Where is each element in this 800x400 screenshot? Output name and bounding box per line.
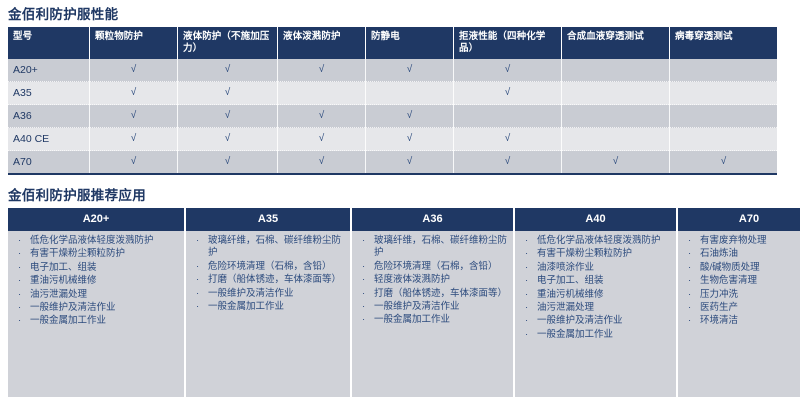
bullet-icon: · [525,262,528,274]
bullet-icon: · [196,261,199,273]
application-list: ·玻璃纤维，石棉、碳纤维粉尘防护·危险环境清理（石棉，含铅）·轻度液体泼溅防护·… [354,235,511,327]
list-item-label: 生物危害清理 [700,275,757,286]
list-item: ·打磨（船体锈迹，车体漆面等） [354,288,511,300]
perf-cell-check: √ [90,59,178,82]
list-item-label: 油污泄漏处理 [537,302,594,313]
bullet-icon: · [525,275,528,287]
list-item-label: 有害干燥粉尘颗粒防护 [537,248,632,259]
perf-cell-check: √ [366,59,454,82]
table-row: A36√√√√ [8,105,777,128]
list-item: ·轻度液体泼溅防护 [354,274,511,286]
list-item: ·一般维护及清洁作业 [188,288,348,300]
apps-cell-a35: ·玻璃纤维，石棉、碳纤维粉尘防护·危险环境清理（石棉，含铅）·打磨（船体锈迹，车… [185,231,351,397]
list-item-label: 一般维护及清洁作业 [537,315,623,326]
perf-cell-model: A35 [8,82,90,105]
list-item-label: 一般维护及清洁作业 [374,301,460,312]
bullet-icon: · [196,288,199,300]
bullet-icon: · [18,302,21,314]
list-item: ·危险环境清理（石棉，含铅） [188,261,348,273]
application-list: ·玻璃纤维，石棉、碳纤维粉尘防护·危险环境清理（石棉，含铅）·打磨（船体锈迹，车… [188,235,348,313]
perf-cell-check: √ [366,105,454,128]
perf-cell-check: √ [178,59,278,82]
check-icon: √ [131,110,137,121]
check-icon: √ [225,87,231,98]
perf-cell-empty [562,59,670,82]
list-item-label: 医药生产 [700,302,738,313]
perf-col-virus: 病毒穿透测试 [670,27,778,59]
list-item-label: 有害干燥粉尘颗粒防护 [30,248,125,259]
table-row: A20+√√√√√ [8,59,777,82]
apps-cell-a40: ·低危化学品液体轻度泼溅防护·有害干燥粉尘颗粒防护·油漆喷涂作业·电子加工、组装… [514,231,677,397]
apps-col-header-a35: A35 [185,208,351,231]
perf-cell-check: √ [454,82,562,105]
perf-cell-check: √ [178,82,278,105]
bullet-icon: · [688,248,691,260]
check-icon: √ [505,133,511,144]
applications-header-row: A20+A35A36A40A70 [8,208,800,231]
check-icon: √ [319,156,325,167]
list-item-label: 打磨（船体锈迹，车体漆面等） [208,274,341,285]
list-item: ·一般维护及清洁作业 [354,301,511,313]
list-item: ·有害废弃物处理 [680,235,800,247]
perf-cell-check: √ [278,59,366,82]
check-icon: √ [407,110,413,121]
check-icon: √ [505,64,511,75]
table-row: A40 CE√√√√√ [8,128,777,151]
list-item: ·电子加工、组装 [517,275,674,287]
bullet-icon: · [18,248,21,260]
bullet-icon: · [525,315,528,327]
bullet-icon: · [688,262,691,274]
list-item-label: 打磨（船体锈迹，车体漆面等） [374,288,507,299]
list-item-label: 一般金属加工作业 [208,301,284,312]
perf-cell-model: A36 [8,105,90,128]
performance-header-row: 型号 颗粒物防护 液体防护（不施加压力） 液体泼溅防护 防静电 拒液性能（四种化… [8,27,777,59]
perf-cell-model: A70 [8,151,90,175]
list-item: ·危险环境清理（石棉，含铅） [354,261,511,273]
check-icon: √ [225,110,231,121]
list-item-label: 危险环境清理（石棉，含铅） [208,261,332,272]
perf-col-repellency: 拒液性能（四种化学品） [454,27,562,59]
list-item-label: 一般金属加工作业 [374,314,450,325]
bullet-icon: · [525,248,528,260]
perf-cell-check: √ [90,82,178,105]
bullet-icon: · [196,274,199,286]
list-item: ·打磨（船体锈迹，车体漆面等） [188,274,348,286]
list-item-label: 电子加工、组装 [537,275,604,286]
performance-table-body: A20+√√√√√A35√√√A36√√√√A40 CE√√√√√A70√√√√… [8,59,777,174]
list-item-label: 轻度液体泼溅防护 [374,274,450,285]
bullet-icon: · [18,289,21,301]
perf-cell-check: √ [366,128,454,151]
applications-table: A20+A35A36A40A70 ·低危化学品液体轻度泼溅防护·有害干燥粉尘颗粒… [8,208,800,397]
bullet-icon: · [525,235,528,247]
perf-cell-empty [670,128,778,151]
list-item: ·一般金属加工作业 [10,315,182,327]
list-item-label: 玻璃纤维，石棉、碳纤维粉尘防护 [208,235,341,258]
check-icon: √ [407,133,413,144]
applications-table-body: ·低危化学品液体轻度泼溅防护·有害干燥粉尘颗粒防护·电子加工、组装·重油污机械维… [8,231,800,397]
apps-col-header-a70: A70 [677,208,800,231]
list-item: ·电子加工、组装 [10,262,182,274]
apps-cell-a70: ·有害废弃物处理·石油炼油·酸/碱物质处理·生物危害清理·压力冲洗·医药生产·环… [677,231,800,397]
table-row: A70√√√√√√√ [8,151,777,175]
perf-cell-empty [366,82,454,105]
list-item: ·医药生产 [680,302,800,314]
perf-cell-check: √ [178,151,278,175]
bullet-icon: · [688,315,691,327]
list-item-label: 一般维护及清洁作业 [208,288,294,299]
check-icon: √ [131,133,137,144]
list-item: ·油污泄漏处理 [10,289,182,301]
check-icon: √ [131,87,137,98]
check-icon: √ [407,156,413,167]
apps-col-header-a36: A36 [351,208,514,231]
check-icon: √ [319,64,325,75]
document-page: 金佰利防护服性能 型号 颗粒物防护 液体防护（不施加压力） 液体泼溅防护 防静电… [0,0,800,400]
perf-col-liquid-splash: 液体泼溅防护 [278,27,366,59]
apps-col-header-a40: A40 [514,208,677,231]
apps-cell-a36: ·玻璃纤维，石棉、碳纤维粉尘防护·危险环境清理（石棉，含铅）·轻度液体泼溅防护·… [351,231,514,397]
list-item-label: 玻璃纤维，石棉、碳纤维粉尘防护 [374,235,507,258]
perf-cell-check: √ [178,128,278,151]
bullet-icon: · [525,289,528,301]
bullet-icon: · [362,301,365,313]
perf-cell-check: √ [366,151,454,175]
check-icon: √ [225,64,231,75]
table-row: A35√√√ [8,82,777,105]
performance-table-head: 型号 颗粒物防护 液体防护（不施加压力） 液体泼溅防护 防静电 拒液性能（四种化… [8,27,777,59]
bullet-icon: · [362,261,365,273]
bullet-icon: · [525,302,528,314]
list-item-label: 油漆喷涂作业 [537,262,594,273]
list-item: ·石油炼油 [680,248,800,260]
bullet-icon: · [688,302,691,314]
bullet-icon: · [18,235,21,247]
bullet-icon: · [362,288,365,300]
perf-cell-check: √ [90,151,178,175]
list-item: ·一般金属加工作业 [188,301,348,313]
perf-cell-check: √ [278,128,366,151]
list-item: ·酸/碱物质处理 [680,262,800,274]
list-item: ·环境清洁 [680,315,800,327]
bullet-icon: · [18,315,21,327]
bullet-icon: · [196,301,199,313]
applications-table-head: A20+A35A36A40A70 [8,208,800,231]
perf-cell-check: √ [454,151,562,175]
list-item: ·有害干燥粉尘颗粒防护 [517,248,674,260]
list-item: ·一般维护及清洁作业 [517,315,674,327]
perf-cell-check: √ [454,128,562,151]
list-item-label: 一般金属加工作业 [30,315,106,326]
list-item: ·油污泄漏处理 [517,302,674,314]
list-item-label: 酸/碱物质处理 [700,262,760,273]
bullet-icon: · [362,314,365,326]
check-icon: √ [131,156,137,167]
list-item: ·压力冲洗 [680,289,800,301]
list-item-label: 一般维护及清洁作业 [30,302,116,313]
perf-cell-empty [670,105,778,128]
list-item-label: 环境清洁 [700,315,738,326]
bullet-icon: · [688,275,691,287]
perf-cell-empty [562,105,670,128]
bullet-icon: · [525,329,528,341]
perf-cell-model: A20+ [8,59,90,82]
list-item: ·一般金属加工作业 [517,329,674,341]
bullet-icon: · [18,262,21,274]
perf-col-blood: 合成血液穿透测试 [562,27,670,59]
list-item-label: 重油污机械维修 [537,289,604,300]
applications-section-title: 金佰利防护服推荐应用 [8,187,800,205]
perf-cell-empty [670,59,778,82]
list-item-label: 低危化学品液体轻度泼溅防护 [537,235,661,246]
perf-cell-empty [670,82,778,105]
list-item: ·重油污机械维修 [10,275,182,287]
list-item: ·低危化学品液体轻度泼溅防护 [517,235,674,247]
application-list: ·有害废弃物处理·石油炼油·酸/碱物质处理·生物危害清理·压力冲洗·医药生产·环… [680,235,800,328]
list-item: ·玻璃纤维，石棉、碳纤维粉尘防护 [354,235,511,260]
list-item: ·有害干燥粉尘颗粒防护 [10,248,182,260]
check-icon: √ [319,133,325,144]
bullet-icon: · [196,235,199,247]
list-item-label: 重油污机械维修 [30,275,97,286]
list-item: ·生物危害清理 [680,275,800,287]
list-item: ·重油污机械维修 [517,289,674,301]
apps-cell-a20plus: ·低危化学品液体轻度泼溅防护·有害干燥粉尘颗粒防护·电子加工、组装·重油污机械维… [8,231,185,397]
performance-section-title: 金佰利防护服性能 [8,6,800,24]
apps-col-header-a20plus: A20+ [8,208,185,231]
check-icon: √ [721,156,727,167]
perf-cell-empty [454,105,562,128]
list-item-label: 石油炼油 [700,248,738,259]
list-item: ·一般维护及清洁作业 [10,302,182,314]
check-icon: √ [319,110,325,121]
bullet-icon: · [688,235,691,247]
list-item-label: 压力冲洗 [700,289,738,300]
list-item-label: 低危化学品液体轻度泼溅防护 [30,235,154,246]
application-list: ·低危化学品液体轻度泼溅防护·有害干燥粉尘颗粒防护·电子加工、组装·重油污机械维… [10,235,182,328]
application-list: ·低危化学品液体轻度泼溅防护·有害干燥粉尘颗粒防护·油漆喷涂作业·电子加工、组装… [517,235,674,341]
bullet-icon: · [18,275,21,287]
bullet-icon: · [362,235,365,247]
check-icon: √ [225,156,231,167]
check-icon: √ [505,156,511,167]
list-item-label: 有害废弃物处理 [700,235,767,246]
perf-cell-empty [278,82,366,105]
perf-cell-empty [562,128,670,151]
perf-col-model: 型号 [8,27,90,59]
list-item: ·一般金属加工作业 [354,314,511,326]
perf-cell-check: √ [178,105,278,128]
check-icon: √ [407,64,413,75]
list-item: ·玻璃纤维，石棉、碳纤维粉尘防护 [188,235,348,260]
perf-cell-check: √ [670,151,778,175]
perf-cell-check: √ [562,151,670,175]
performance-table: 型号 颗粒物防护 液体防护（不施加压力） 液体泼溅防护 防静电 拒液性能（四种化… [8,27,777,175]
list-item-label: 危险环境清理（石棉，含铅） [374,261,498,272]
list-item: ·油漆喷涂作业 [517,262,674,274]
perf-cell-check: √ [278,105,366,128]
perf-cell-check: √ [90,128,178,151]
perf-col-antistatic: 防静电 [366,27,454,59]
perf-col-particulate: 颗粒物防护 [90,27,178,59]
check-icon: √ [613,156,619,167]
check-icon: √ [505,87,511,98]
bullet-icon: · [688,289,691,301]
perf-cell-check: √ [454,59,562,82]
perf-col-liquid-nopress: 液体防护（不施加压力） [178,27,278,59]
perf-cell-model: A40 CE [8,128,90,151]
perf-cell-check: √ [90,105,178,128]
bullet-icon: · [362,274,365,286]
list-item-label: 一般金属加工作业 [537,329,613,340]
list-item-label: 电子加工、组装 [30,262,97,273]
check-icon: √ [225,133,231,144]
list-item: ·低危化学品液体轻度泼溅防护 [10,235,182,247]
applications-content-row: ·低危化学品液体轻度泼溅防护·有害干燥粉尘颗粒防护·电子加工、组装·重油污机械维… [8,231,800,397]
perf-cell-check: √ [278,151,366,175]
list-item-label: 油污泄漏处理 [30,289,87,300]
perf-cell-empty [562,82,670,105]
check-icon: √ [131,64,137,75]
